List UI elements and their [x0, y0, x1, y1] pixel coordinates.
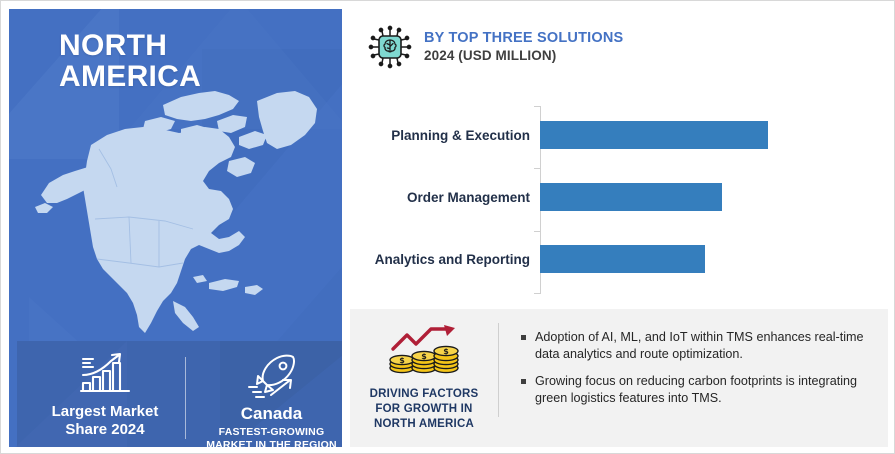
bar-chart: Planning & Execution Order Management An…	[350, 106, 888, 296]
bullet-square-icon	[521, 379, 526, 384]
rocket-icon	[193, 347, 342, 399]
bullet-text: Adoption of AI, ML, and IoT within TMS e…	[535, 329, 872, 362]
category-label-0: Planning & Execution	[350, 121, 540, 149]
ai-chip-brain-icon	[368, 25, 412, 69]
badge-country-subtitle: FASTEST-GROWING MARKET IN THE REGION	[193, 426, 342, 447]
axis-tick	[534, 231, 540, 232]
bar-planning-execution[interactable]	[540, 121, 768, 149]
list-item: Adoption of AI, ML, and IoT within TMS e…	[521, 329, 872, 362]
driving-factors-panel: $ $ $ DRIVING FACTORS FOR GROWTH IN NORT…	[350, 309, 888, 447]
category-labels: Planning & Execution Order Management An…	[350, 106, 540, 296]
region-title: NORTH AMERICA	[59, 31, 201, 92]
bar-analytics-reporting[interactable]	[540, 245, 705, 273]
badge-fastest-growing-country: Canada FASTEST-GROWING MARKET IN THE REG…	[193, 347, 342, 447]
infographic-card: NORTH AMERICA	[0, 0, 895, 454]
bar-order-management[interactable]	[540, 183, 722, 211]
badge-divider	[185, 357, 186, 439]
svg-text:$: $	[443, 347, 449, 356]
chart-title: BY TOP THREE SOLUTIONS	[424, 30, 623, 47]
coins-growth-arrow-icon: $ $ $	[387, 323, 461, 375]
region-badges: Largest Market Share 2024 Canada FASTE	[17, 341, 342, 447]
chart-panel: BY TOP THREE SOLUTIONS 2024 (USD MILLION…	[350, 9, 888, 309]
chart-header-text: BY TOP THREE SOLUTIONS 2024 (USD MILLION…	[424, 30, 623, 64]
north-america-map-icon	[33, 87, 333, 337]
svg-text:$: $	[421, 352, 427, 361]
badge-share-label: Largest Market Share 2024	[25, 403, 185, 438]
chart-subtitle: 2024 (USD MILLION)	[424, 48, 623, 64]
category-label-2: Analytics and Reporting	[350, 245, 540, 273]
driving-factors-heading: $ $ $ DRIVING FACTORS FOR GROWTH IN NORT…	[350, 309, 498, 432]
driving-factors-title: DRIVING FACTORS FOR GROWTH IN NORTH AMER…	[350, 387, 498, 432]
axis-tick	[534, 293, 540, 294]
svg-text:$: $	[399, 356, 405, 365]
badge-largest-market-share: Largest Market Share 2024	[25, 347, 185, 438]
bullet-square-icon	[521, 335, 526, 340]
axis-tick	[534, 106, 540, 107]
growth-bar-chart-icon	[25, 347, 185, 399]
badge-country-name: Canada	[193, 405, 342, 424]
category-label-1: Order Management	[350, 183, 540, 211]
chart-header: BY TOP THREE SOLUTIONS 2024 (USD MILLION…	[368, 25, 623, 69]
axis-tick	[534, 168, 540, 169]
driving-factors-list: Adoption of AI, ML, and IoT within TMS e…	[499, 309, 888, 417]
bullet-text: Growing focus on reducing carbon footpri…	[535, 373, 872, 406]
region-panel: NORTH AMERICA	[9, 9, 342, 447]
list-item: Growing focus on reducing carbon footpri…	[521, 373, 872, 406]
